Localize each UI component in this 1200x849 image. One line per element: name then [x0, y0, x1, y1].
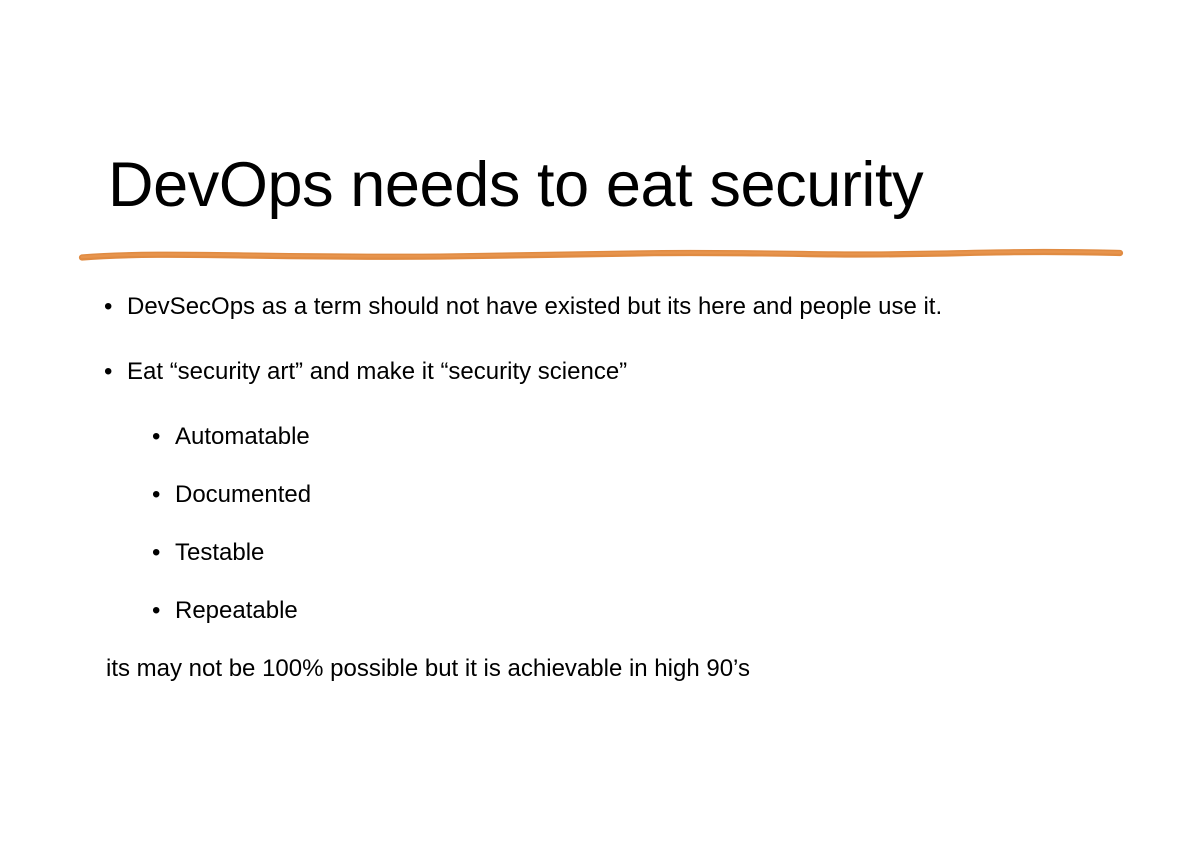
list-item: • Documented — [104, 480, 1104, 510]
orange-underline-icon — [74, 238, 1130, 272]
closing-note: its may not be 100% possible but it is a… — [104, 654, 1104, 684]
list-item-label: DevSecOps as a term should not have exis… — [127, 292, 942, 322]
slide-canvas: DevOps needs to eat security • DevSecOps… — [0, 0, 1200, 849]
bullet-marker-icon: • — [104, 292, 127, 322]
list-item: • Eat “security art” and make it “securi… — [104, 357, 1104, 387]
bullet-marker-icon: • — [152, 596, 175, 626]
list-item: • Automatable — [104, 422, 1104, 452]
list-item-label: Testable — [175, 538, 264, 568]
orange-underline-divider — [74, 238, 1130, 272]
list-item-label: Documented — [175, 480, 311, 510]
list-item-label: Automatable — [175, 422, 310, 452]
bullet-list: • DevSecOps as a term should not have ex… — [104, 292, 1104, 684]
bullet-marker-icon: • — [152, 538, 175, 568]
list-item: • Repeatable — [104, 596, 1104, 626]
list-item-label: Eat “security art” and make it “security… — [127, 357, 627, 387]
list-item-label: Repeatable — [175, 596, 298, 626]
list-item: • DevSecOps as a term should not have ex… — [104, 292, 1104, 322]
bullet-marker-icon: • — [152, 422, 175, 452]
page-title: DevOps needs to eat security — [108, 152, 1108, 218]
bullet-marker-icon: • — [104, 357, 127, 387]
bullet-marker-icon: • — [152, 480, 175, 510]
list-item: • Testable — [104, 538, 1104, 568]
